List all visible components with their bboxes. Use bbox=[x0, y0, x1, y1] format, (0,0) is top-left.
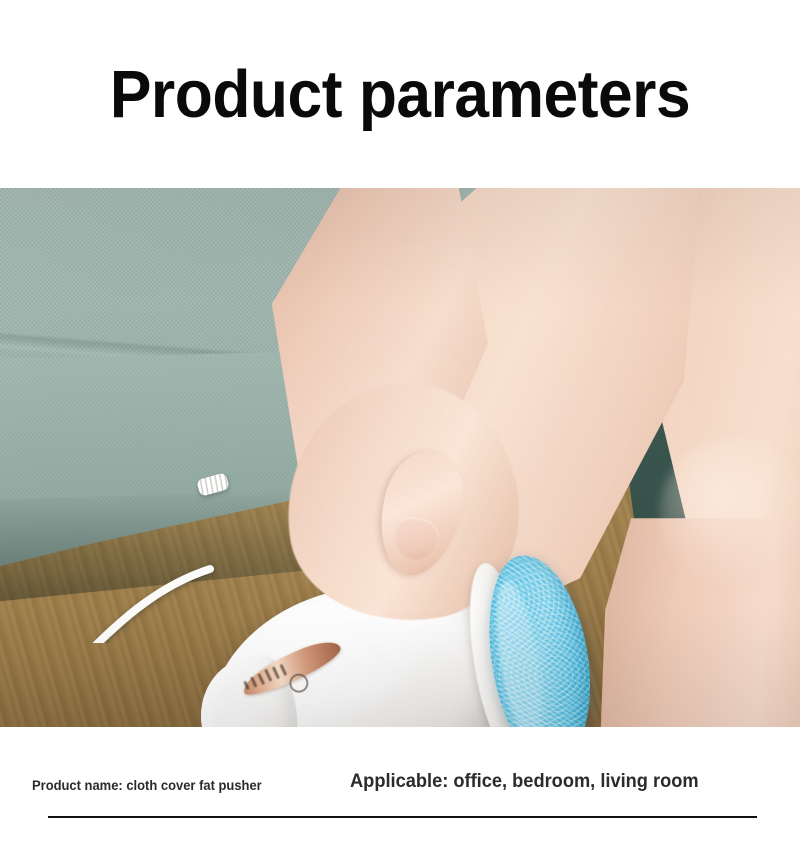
page-title: Product parameters bbox=[110, 61, 690, 128]
title-band: Product parameters bbox=[0, 0, 800, 188]
caption-strip: Product name: cloth cover fat pusher App… bbox=[0, 727, 800, 844]
spec-applicable: Applicable: office, bedroom, living room bbox=[350, 771, 699, 793]
product-parameters-page: Product parameters bbox=[0, 0, 800, 844]
product-photo bbox=[0, 188, 800, 727]
knee-highlight bbox=[660, 438, 800, 588]
spec-product-name: Product name: cloth cover fat pusher bbox=[32, 778, 262, 793]
divider bbox=[48, 816, 757, 818]
